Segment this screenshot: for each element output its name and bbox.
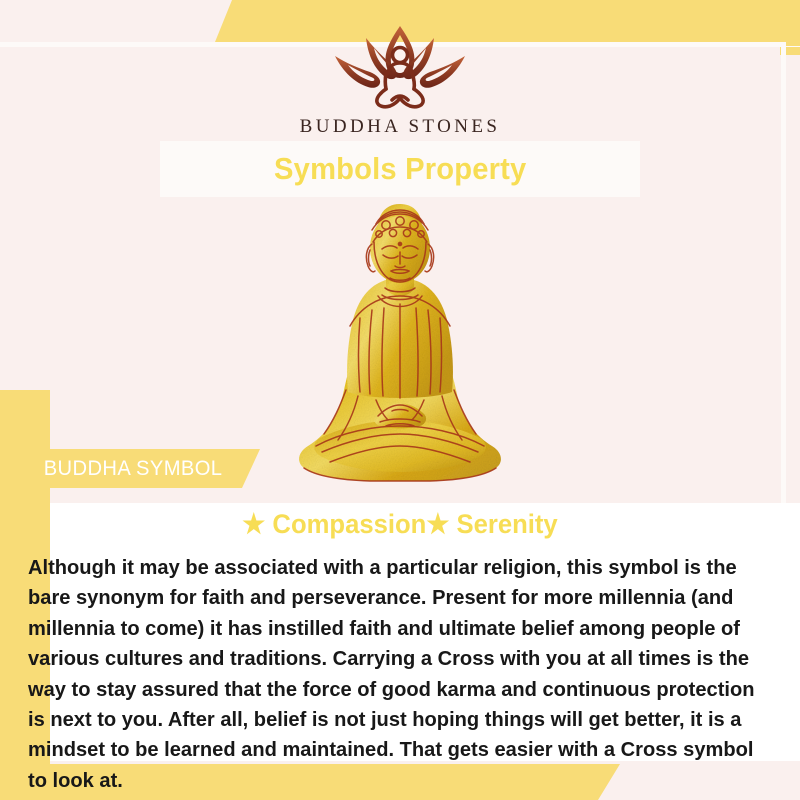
lotus-meditation-icon — [310, 22, 490, 114]
body-paragraph: Although it may be associated with a par… — [28, 553, 765, 796]
brand-logo: BUDDHA STONES — [0, 22, 800, 138]
symbol-tag-label: BUDDHA SYMBOL — [44, 457, 223, 481]
golden-buddha-statue-icon — [280, 200, 520, 495]
page-title: Symbols Property — [274, 151, 526, 187]
poster-canvas: BUDDHA STONES Symbols Property — [0, 0, 800, 800]
title-banner: Symbols Property — [160, 141, 640, 197]
symbol-tag: BUDDHA SYMBOL — [20, 449, 260, 488]
brand-wordmark: BUDDHA STONES — [0, 116, 800, 138]
subheading: ★ Compassion★ Serenity — [20, 509, 780, 540]
